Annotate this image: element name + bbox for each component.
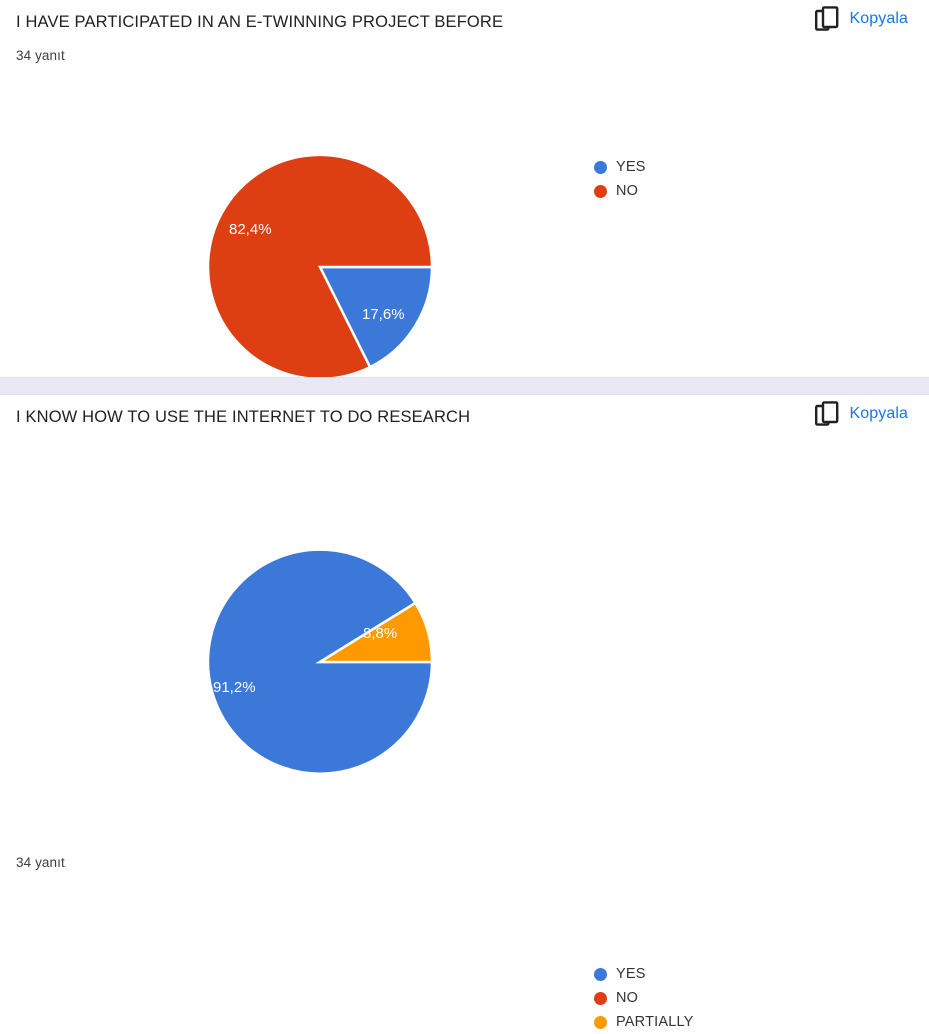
copy-icon xyxy=(815,401,839,427)
page-title: I HAVE PARTICIPATED IN AN E-TWINNING PRO… xyxy=(16,10,503,34)
legend-swatch-yes-icon xyxy=(594,161,607,174)
response-count-1: 34 yanıt xyxy=(16,48,65,63)
page-title-2: I KNOW HOW TO USE THE INTERNET TO DO RES… xyxy=(16,405,470,429)
legend-item-no-2[interactable]: NO xyxy=(594,986,694,1010)
copy-chart-label-1: Kopyala xyxy=(849,9,908,29)
pie-slice-label-yes-1: 17,6% xyxy=(362,306,405,323)
legend-item-no-1[interactable]: NO xyxy=(594,179,646,203)
legend-item-yes-2[interactable]: YES xyxy=(594,962,694,986)
legend-swatch-yes-icon xyxy=(594,968,607,981)
legend-label-yes-2: YES xyxy=(616,966,646,982)
copy-chart-button-1[interactable]: Kopyala xyxy=(815,6,908,32)
question-result-card-1: I HAVE PARTICIPATED IN AN E-TWINNING PRO… xyxy=(0,0,929,377)
legend-label-partially-2: PARTIALLY xyxy=(616,1014,694,1030)
legend-swatch-no-icon xyxy=(594,185,607,198)
legend-swatch-partially-icon xyxy=(594,1016,607,1029)
copy-icon xyxy=(815,6,839,32)
pie-chart-1-svg: 82,4% 17,6% xyxy=(180,133,600,403)
legend-1: YES NO xyxy=(594,155,646,203)
pie-slice-label-partially-2: 8,8% xyxy=(363,625,397,642)
legend-item-partially-2[interactable]: PARTIALLY xyxy=(594,1010,694,1034)
legend-swatch-no-icon xyxy=(594,992,607,1005)
legend-item-yes-1[interactable]: YES xyxy=(594,155,646,179)
legend-label-yes-1: YES xyxy=(616,159,646,175)
question-result-card-2: I KNOW HOW TO USE THE INTERNET TO DO RES… xyxy=(0,395,929,772)
section-divider xyxy=(0,377,929,395)
pie-slice-label-yes-2: 91,2% xyxy=(213,679,256,696)
question-header-1: I HAVE PARTICIPATED IN AN E-TWINNING PRO… xyxy=(0,0,929,48)
response-count-2: 34 yanıt xyxy=(16,855,65,870)
pie-chart-2-svg: 91,2% 8,8% xyxy=(180,528,600,798)
legend-label-no-2: NO xyxy=(616,990,638,1006)
legend-2: YES NO PARTIALLY xyxy=(594,962,694,1034)
question-header-2: I KNOW HOW TO USE THE INTERNET TO DO RES… xyxy=(0,395,929,443)
copy-chart-label-2: Kopyala xyxy=(849,404,908,424)
copy-chart-button-2[interactable]: Kopyala xyxy=(815,401,908,427)
legend-label-no-1: NO xyxy=(616,183,638,199)
pie-slice-label-no-1: 82,4% xyxy=(229,221,272,238)
